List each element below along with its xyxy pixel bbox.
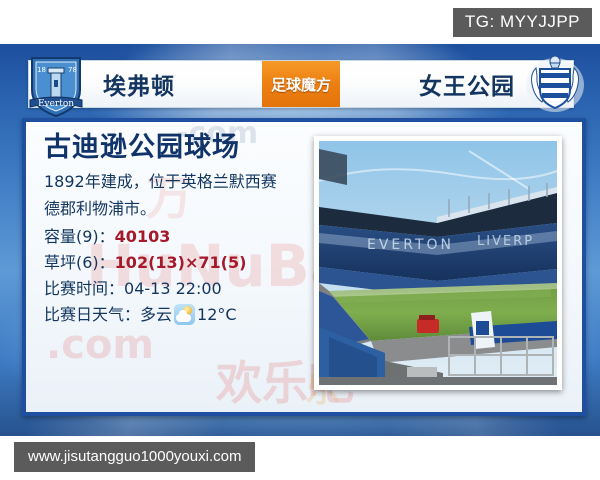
match-time-label: 比赛时间： <box>44 279 124 298</box>
capacity-label: 容量(9)： <box>44 227 115 246</box>
main-stage: 埃弗顿 足球魔方 女王公园 18 78 Everton -com HuNuBa … <box>0 44 600 436</box>
weather-condition: 多云 <box>140 302 172 328</box>
svg-text:EVERTON: EVERTON <box>367 237 454 253</box>
capacity-row: 容量(9)：40103 <box>44 224 334 250</box>
pitch-label: 草坪(6)： <box>44 253 115 272</box>
svg-text:18: 18 <box>37 66 46 74</box>
team-header-band: 埃弗顿 足球魔方 女王公园 <box>28 60 574 108</box>
weather-row: 比赛日天气：多云12°C <box>44 302 334 328</box>
match-time-value: 04-13 22:00 <box>124 279 222 298</box>
site-url-badge: www.jisutangguo1000youxi.com <box>14 442 255 472</box>
stadium-photo: EVERTON LIVERP <box>319 141 557 385</box>
partly-cloudy-icon <box>174 304 195 325</box>
match-time-row: 比赛时间：04-13 22:00 <box>44 276 334 302</box>
home-team-name: 埃弗顿 <box>103 67 175 101</box>
stadium-title: 古迪逊公园球场 <box>44 132 334 164</box>
qpr-crest <box>524 52 586 114</box>
watermark-text: .com <box>46 322 154 368</box>
footer-bar: www.jisutangguo1000youxi.com <box>0 436 600 480</box>
pitch-value: 102(13)×71(5) <box>115 253 247 272</box>
everton-crest: 18 78 Everton <box>24 50 88 118</box>
away-team-name: 女王公园 <box>419 67 515 101</box>
stadium-description-line2: 德郡利物浦市。 <box>44 197 334 222</box>
top-bar: TG: MYYJJPP <box>0 0 600 44</box>
stadium-description-line1: 1892年建成，位于英格兰默西赛 <box>44 170 334 195</box>
weather-label: 比赛日天气： <box>44 302 140 328</box>
svg-text:Everton: Everton <box>38 99 74 109</box>
tg-tag-badge: TG: MYYJJPP <box>453 8 592 37</box>
weather-temperature: 12°C <box>197 302 237 328</box>
site-logo-badge[interactable]: 足球魔方 <box>262 61 340 107</box>
stadium-info-block: 古迪逊公园球场 1892年建成，位于英格兰默西赛 德郡利物浦市。 容量(9)：4… <box>44 132 334 328</box>
stadium-photo-frame: EVERTON LIVERP <box>314 136 562 390</box>
site-logo-text: 足球魔方 <box>271 74 331 95</box>
pitch-row: 草坪(6)：102(13)×71(5) <box>44 250 334 276</box>
capacity-value: 40103 <box>115 227 171 246</box>
svg-text:LIVERP: LIVERP <box>477 234 534 249</box>
stadium-info-panel: -com HuNuBa .com 欢乐吧 乐 万 古迪逊公园球场 1892年建成… <box>22 118 586 416</box>
svg-text:78: 78 <box>68 66 77 74</box>
